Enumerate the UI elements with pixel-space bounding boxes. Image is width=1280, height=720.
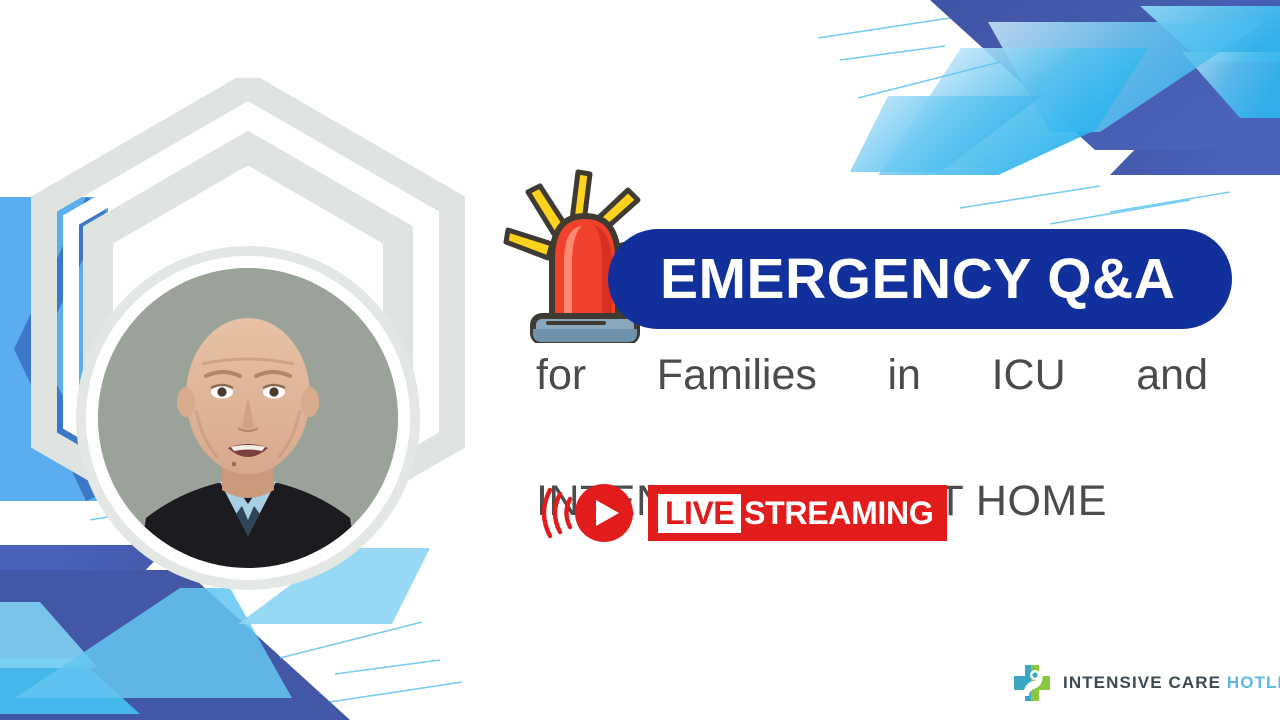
- medical-cross-person-icon: [1012, 663, 1052, 703]
- portrait-hexagon-frame: [0, 78, 530, 608]
- brand-logo[interactable]: INTENSIVE CARE HOTLINE: [1012, 663, 1280, 703]
- presentation-slide: EMERGENCY Q&A for Families in ICU and IN…: [0, 0, 1280, 720]
- play-circle-icon[interactable]: [538, 480, 634, 546]
- streaming-label: STREAMING: [744, 495, 933, 532]
- emergency-qa-banner: EMERGENCY Q&A: [608, 229, 1232, 329]
- live-streaming-indicator: LIVE STREAMING: [538, 480, 947, 546]
- speaker-portrait: [98, 268, 398, 568]
- live-streaming-badge: LIVE STREAMING: [648, 485, 947, 541]
- decorative-stripes-top-right: [810, 0, 1280, 230]
- page-title: EMERGENCY Q&A: [660, 246, 1175, 312]
- subtitle-line-1: for Families in ICU and: [536, 344, 1208, 470]
- logo-wordmark: INTENSIVE CARE HOTLINE: [1063, 673, 1280, 693]
- logo-name-secondary: HOTLINE: [1227, 673, 1280, 692]
- live-label: LIVE: [658, 494, 741, 533]
- logo-name-primary: INTENSIVE CARE: [1063, 673, 1221, 692]
